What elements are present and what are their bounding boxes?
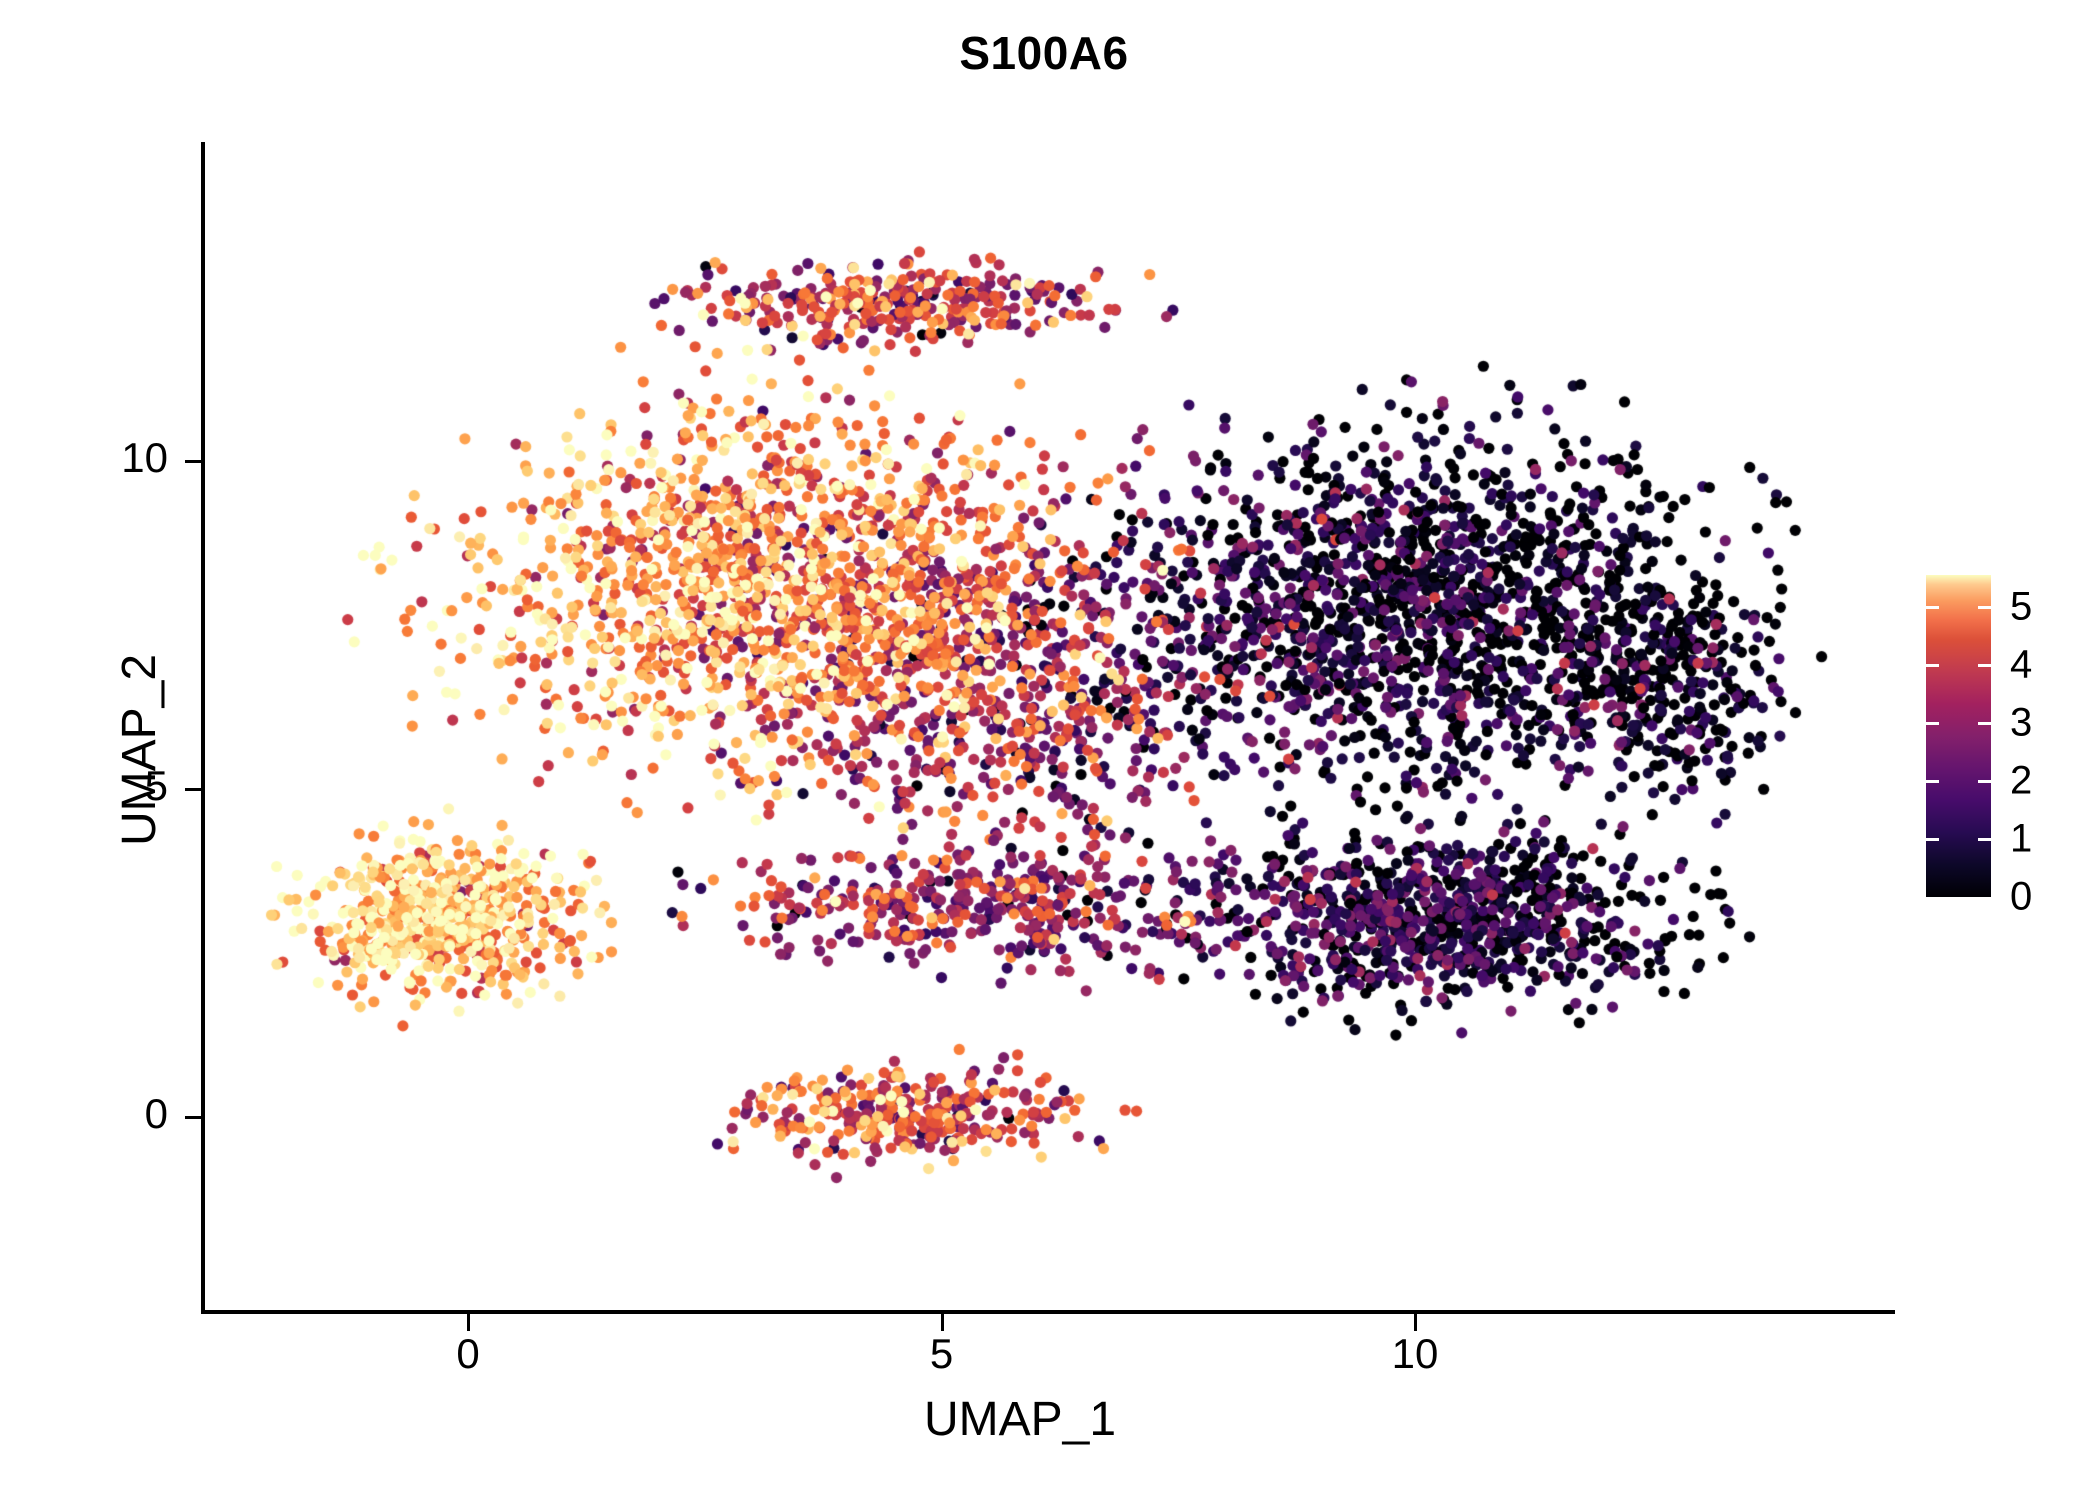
colorbar-tick-mark — [1926, 838, 1939, 841]
page-title: S100A6 — [0, 26, 2094, 80]
colorbar-tick-mark — [1926, 664, 1939, 667]
colorbar-gradient — [1926, 575, 1991, 897]
x-tick-label: 0 — [456, 1330, 479, 1378]
colorbar-tick-mark — [1926, 606, 1939, 609]
colorbar-tick-label: 5 — [2010, 584, 2032, 629]
x-axis-line — [201, 1310, 1895, 1314]
x-tick-mark — [941, 1314, 944, 1331]
legend-colorbar: 012345 — [1926, 575, 2096, 897]
x-tick-label: 5 — [930, 1330, 953, 1378]
y-axis-line — [201, 142, 205, 1314]
colorbar-tick-label: 0 — [2010, 875, 2032, 920]
colorbar-tick-label: 1 — [2010, 816, 2032, 861]
x-tick-label: 10 — [1392, 1330, 1439, 1378]
colorbar-tick-mark — [1978, 780, 1991, 783]
colorbar-tick-mark — [1926, 780, 1939, 783]
colorbar-tick-label: 4 — [2010, 642, 2032, 687]
colorbar-tick-mark — [1978, 838, 1991, 841]
colorbar-tick-label: 3 — [2010, 700, 2032, 745]
colorbar-tick-mark — [1978, 722, 1991, 725]
scatter-points-layer — [204, 142, 1895, 1312]
colorbar-tick-mark — [1926, 722, 1939, 725]
x-tick-mark — [467, 1314, 470, 1331]
colorbar-tick-mark — [1978, 606, 1991, 609]
y-axis-title: UMAP_2 — [92, 0, 188, 1500]
plot-panel — [204, 142, 1895, 1312]
colorbar-tick-mark — [1978, 664, 1991, 667]
umap-scatter-plot: S100A6 0510 0510 UMAP_1 UMAP_2 012345 — [0, 0, 2100, 1500]
colorbar-tick-label: 2 — [2010, 758, 2032, 803]
x-tick-mark — [1414, 1314, 1417, 1331]
x-axis-title: UMAP_1 — [0, 1392, 2070, 1447]
